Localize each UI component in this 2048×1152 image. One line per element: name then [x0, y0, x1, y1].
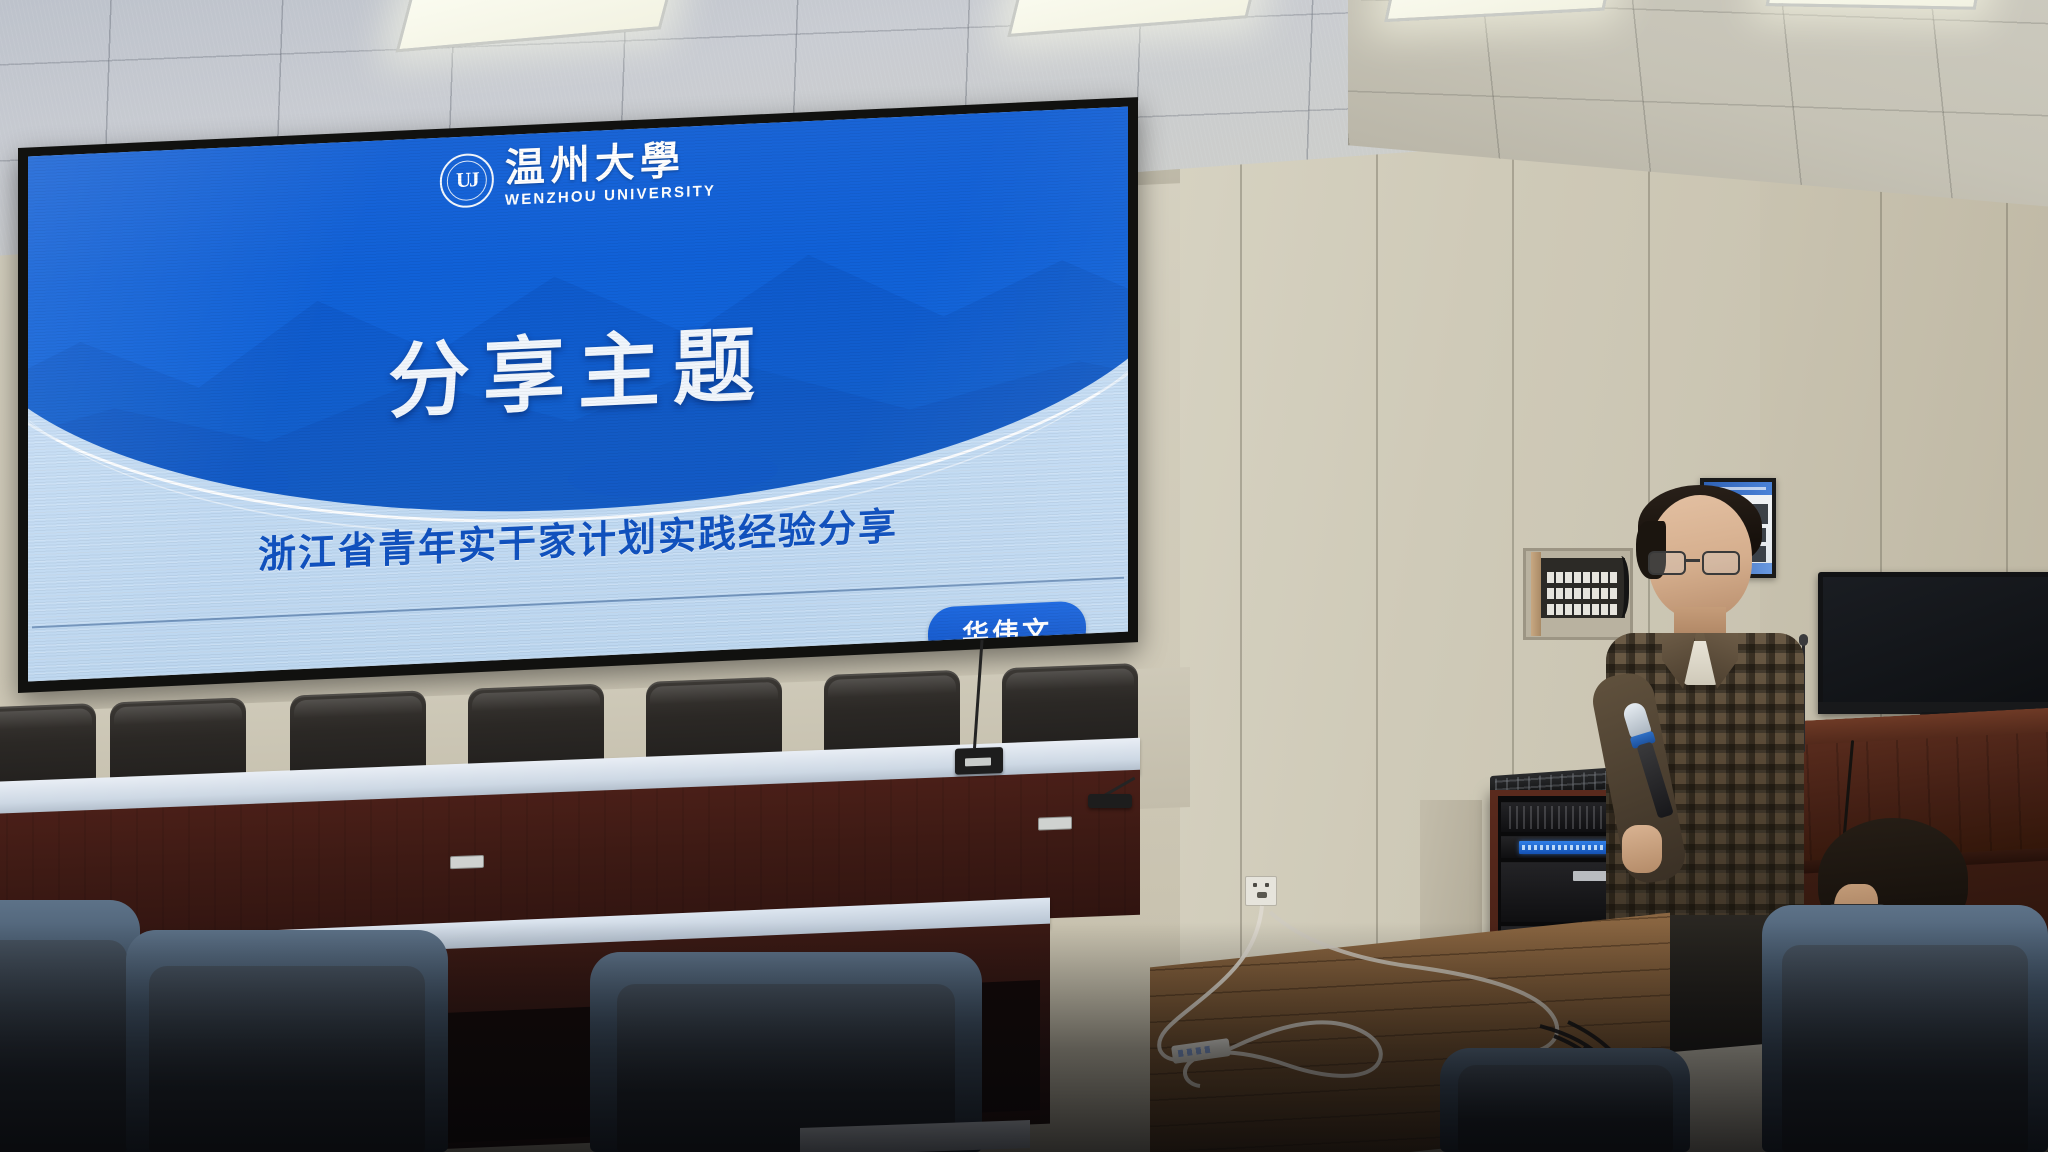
university-logo-lockup: UJ 温州大學 WENZHOU UNIVERSITY [440, 139, 716, 211]
table-label-plate [450, 855, 484, 869]
slide-surface: UJ 温州大學 WENZHOU UNIVERSITY 分享主题 浙江省青年实干家… [28, 107, 1128, 682]
audience-seat [126, 930, 448, 1152]
projection-screen: UJ 温州大學 WENZHOU UNIVERSITY 分享主题 浙江省青年实干家… [18, 97, 1138, 693]
audience-seat [0, 900, 140, 1152]
eyeglasses-bridge [1686, 559, 1700, 562]
audience-seat [1762, 905, 2048, 1152]
university-name-cn: 温州大學 [505, 141, 685, 190]
audience-seat [590, 952, 982, 1152]
audience-seat [1440, 1048, 1690, 1152]
eyeglasses-left-lens [1648, 551, 1686, 575]
seal-monogram: UJ [456, 170, 478, 192]
table-label-plate [1038, 816, 1072, 830]
university-seal-icon: UJ [440, 152, 494, 208]
podium-monitor [1818, 572, 2048, 714]
presenter-hand [1622, 825, 1662, 873]
desk-microphone [1088, 760, 1124, 820]
eyeglasses-right-lens [1702, 551, 1740, 575]
conference-room-photo: UJ 温州大學 WENZHOU UNIVERSITY 分享主题 浙江省青年实干家… [0, 0, 2048, 1152]
desk-microphone [955, 639, 995, 780]
